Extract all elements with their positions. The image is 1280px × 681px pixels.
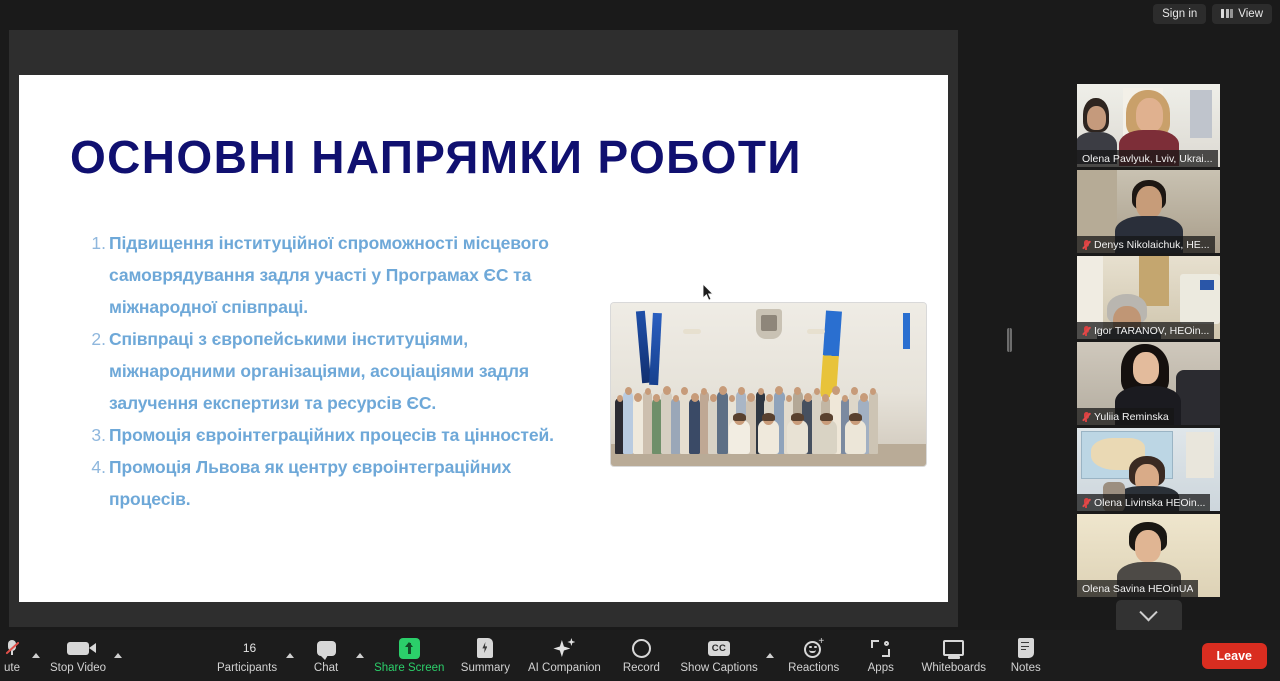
- participant-tile[interactable]: Olena Savina HEOinUA: [1077, 514, 1220, 597]
- layout-grid-icon: [1221, 9, 1233, 18]
- apps-button[interactable]: Apps: [850, 630, 912, 681]
- chevron-up-icon: [114, 653, 122, 658]
- list-item: 2. Співпраці з європейськими інституціям…: [87, 323, 597, 419]
- photo-people-group: [611, 342, 926, 454]
- captions-options-caret[interactable]: [764, 630, 778, 681]
- record-button[interactable]: Record: [608, 630, 674, 681]
- list-item-number: 2.: [87, 323, 109, 355]
- participant-name-bar: Igor TARANOV, HEOin...: [1077, 322, 1214, 339]
- participants-button[interactable]: 16 Participants: [210, 630, 284, 681]
- leave-button[interactable]: Leave: [1202, 643, 1267, 669]
- meeting-toolbar: ute Stop Video 16 Participants: [0, 630, 1280, 681]
- view-label: View: [1238, 8, 1263, 20]
- list-item: 3. Промоція євроінтеграційних процесів т…: [87, 419, 597, 451]
- chevron-up-icon: [32, 653, 40, 658]
- reactions-button[interactable]: + Reactions: [778, 630, 850, 681]
- participant-thumbnail-strip: Olena Pavlyuk, Lviv, Ukrai... Denys Niko…: [1077, 84, 1220, 621]
- zoom-meeting-window: Sign in View ОСНОВНІ НАПРЯМКИ РОБОТИ 1. …: [0, 0, 1280, 681]
- view-button[interactable]: View: [1212, 4, 1272, 24]
- scroll-down-button[interactable]: [1116, 600, 1182, 633]
- list-item: 1. Підвищення інституційної спроможності…: [87, 227, 597, 323]
- notes-button[interactable]: Notes: [996, 630, 1056, 681]
- mic-muted-icon: [1082, 325, 1090, 337]
- whiteboard-icon: [943, 640, 964, 656]
- chat-bubble-icon: [317, 641, 336, 656]
- chevron-up-icon: [356, 653, 364, 658]
- list-item-text: Підвищення інституційної спроможності мі…: [109, 227, 597, 323]
- sign-in-label: Sign in: [1162, 8, 1197, 20]
- list-item: 4. Промоція Львова як центру євроінтегра…: [87, 451, 597, 515]
- participant-name-bar: Denys Nikolaichuk, HE...: [1077, 236, 1215, 253]
- chat-options-caret[interactable]: [354, 630, 368, 681]
- participant-name: Olena Savina HEOinUA: [1082, 583, 1193, 595]
- participant-name-bar: Olena Livinska HEOin...: [1077, 494, 1210, 511]
- participant-tile[interactable]: Olena Livinska HEOin...: [1077, 428, 1220, 511]
- participant-tile[interactable]: Denys Nikolaichuk, HE...: [1077, 170, 1220, 253]
- list-item-text: Промоція Львова як центру євроінтеграцій…: [109, 451, 597, 515]
- participant-name: Yuliia Reminska: [1094, 411, 1169, 423]
- list-item-number: 4.: [87, 451, 109, 483]
- mute-label: ute: [4, 662, 20, 674]
- participant-name-bar: Yuliia Reminska: [1077, 408, 1174, 425]
- participant-tile[interactable]: Yuliia Reminska: [1077, 342, 1220, 425]
- whiteboards-button[interactable]: Whiteboards: [912, 630, 996, 681]
- participant-name: Igor TARANOV, HEOin...: [1094, 325, 1209, 337]
- share-screen-icon: [399, 638, 420, 659]
- notes-icon: [1018, 638, 1034, 658]
- notes-label: Notes: [1011, 662, 1041, 674]
- participant-name-bar: Olena Savina HEOinUA: [1077, 580, 1198, 597]
- participant-tile[interactable]: Igor TARANOV, HEOin...: [1077, 256, 1220, 339]
- stop-video-label: Stop Video: [50, 662, 106, 674]
- summary-doc-icon: [477, 638, 493, 658]
- mute-button[interactable]: ute: [0, 630, 30, 681]
- presentation-slide: ОСНОВНІ НАПРЯМКИ РОБОТИ 1. Підвищення ін…: [19, 75, 948, 602]
- record-label: Record: [623, 662, 660, 674]
- slide-title: ОСНОВНІ НАПРЯМКИ РОБОТИ: [70, 130, 910, 184]
- window-top-bar: Sign in View: [0, 0, 1280, 27]
- participant-name: Olena Livinska HEOin...: [1094, 497, 1205, 509]
- participants-options-caret[interactable]: [284, 630, 298, 681]
- share-screen-label: Share Screen: [374, 662, 444, 674]
- apps-icon: [871, 639, 890, 658]
- sign-in-button[interactable]: Sign in: [1153, 4, 1206, 24]
- slide-group-photo: [611, 303, 926, 466]
- sparkle-icon: [553, 638, 575, 658]
- mute-options-caret[interactable]: [30, 630, 44, 681]
- participant-tile[interactable]: Olena Pavlyuk, Lviv, Ukrai...: [1077, 84, 1220, 167]
- reactions-icon: +: [804, 639, 823, 658]
- participants-count: 16: [243, 641, 256, 655]
- chevron-up-icon: [286, 653, 294, 658]
- ai-companion-button[interactable]: AI Companion: [520, 630, 608, 681]
- camera-icon: [67, 642, 89, 655]
- ai-companion-label: AI Companion: [528, 662, 601, 674]
- chevron-up-icon: [766, 653, 774, 658]
- panel-resize-handle[interactable]: [1007, 328, 1012, 352]
- summary-button[interactable]: Summary: [450, 630, 520, 681]
- list-item-text: Промоція євроінтеграційних процесів та ц…: [109, 419, 597, 451]
- participants-label: Participants: [217, 662, 277, 674]
- apps-label: Apps: [868, 662, 894, 674]
- mic-muted-icon: [1082, 411, 1090, 423]
- shared-screen-frame: ОСНОВНІ НАПРЯМКИ РОБОТИ 1. Підвищення ін…: [9, 30, 958, 627]
- video-options-caret[interactable]: [112, 630, 126, 681]
- participant-name: Denys Nikolaichuk, HE...: [1094, 239, 1210, 251]
- show-captions-button[interactable]: CC Show Captions: [674, 630, 763, 681]
- city-crest: [756, 309, 782, 339]
- show-captions-label: Show Captions: [680, 662, 757, 674]
- reactions-label: Reactions: [788, 662, 839, 674]
- chat-button[interactable]: Chat: [298, 630, 354, 681]
- summary-label: Summary: [461, 662, 510, 674]
- cc-icon: CC: [708, 641, 730, 656]
- share-screen-button[interactable]: Share Screen: [368, 630, 450, 681]
- mic-muted-icon: [1082, 497, 1090, 509]
- chat-label: Chat: [314, 662, 338, 674]
- stop-video-button[interactable]: Stop Video: [44, 630, 112, 681]
- mic-muted-icon: [8, 640, 16, 657]
- participant-name-bar: Olena Pavlyuk, Lviv, Ukrai...: [1077, 150, 1218, 167]
- whiteboards-label: Whiteboards: [921, 662, 986, 674]
- record-circle-icon: [632, 639, 651, 658]
- list-item-text: Співпраці з європейськими інституціями, …: [109, 323, 597, 419]
- leave-label: Leave: [1217, 649, 1252, 663]
- chevron-down-icon: [1139, 603, 1157, 621]
- list-item-number: 1.: [87, 227, 109, 259]
- slide-bullet-list: 1. Підвищення інституційної спроможності…: [87, 227, 597, 515]
- mic-muted-icon: [1082, 239, 1090, 251]
- participant-name: Olena Pavlyuk, Lviv, Ukrai...: [1082, 153, 1213, 165]
- list-item-number: 3.: [87, 419, 109, 451]
